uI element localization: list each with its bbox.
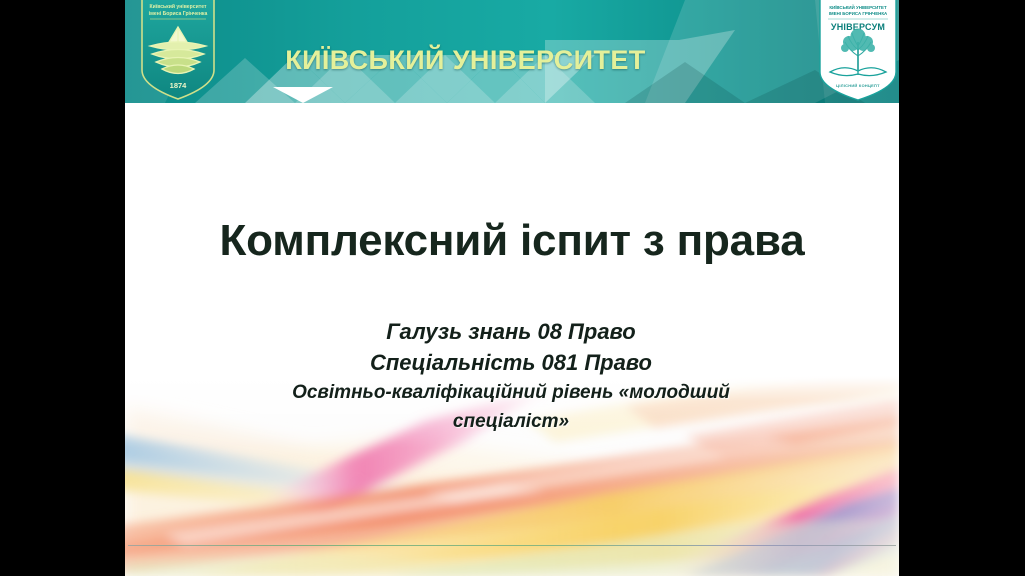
universum-shield-icon: КИЇВСЬКИЙ УНІВЕРСИТЕТ ІМЕНІ БОРИСА ГРІНЧ… [816,0,899,102]
slide-main-title: Комплексний іспит з права [125,216,899,266]
subtitle-line-speciality: Спеціальність 081 Право [211,347,811,378]
letterbox-bar-left [0,0,125,576]
badge-top-line2: ІМЕНІ БОРИСА ГРІНЧЕНКА [829,11,888,16]
university-name-heading: КИЇВСЬКИЙ УНІВЕРСИТЕТ ІМЕНІ БОРИСА ГРІНЧ… [222,12,646,103]
presentation-slide: Київський університет імені Бориса Грінч… [125,0,899,576]
badge-top-line1: КИЇВСЬКИЙ УНІВЕРСИТЕТ [829,5,887,10]
letterbox-bar-right [899,0,1025,576]
subtitle-line-qualification-level: Освітньо-кваліфікаційний рівень «молодши… [211,378,811,407]
slide-stage: Київський університет імені Бориса Грінч… [0,0,1025,576]
crest-top-line2: імені Бориса Грінченка [149,11,208,17]
bottom-divider-line [128,545,896,546]
crest-top-line1: Київський університет [150,3,207,10]
subtitle-line-field-of-knowledge: Галузь знань 08 Право [211,316,811,347]
subtitle-line-qualification-level-cont: спеціаліст» [211,407,811,436]
university-crest-logo: Київський університет імені Бориса Грінч… [136,0,220,102]
badge-bottom-text: ЦІЛІСНИЙ КОНЦЕПТ [836,83,880,88]
slide-header-band: Київський університет імені Бориса Грінч… [125,0,899,103]
universum-badge-logo: КИЇВСЬКИЙ УНІВЕРСИТЕТ ІМЕНІ БОРИСА ГРІНЧ… [816,0,899,102]
slide-subtitle-block: Галузь знань 08 Право Спеціальність 081 … [211,316,811,436]
crest-year: 1874 [170,81,188,90]
crest-shield-icon: Київський університет імені Бориса Грінч… [136,0,220,102]
university-name-line1: КИЇВСЬКИЙ УНІВЕРСИТЕТ [285,45,645,75]
